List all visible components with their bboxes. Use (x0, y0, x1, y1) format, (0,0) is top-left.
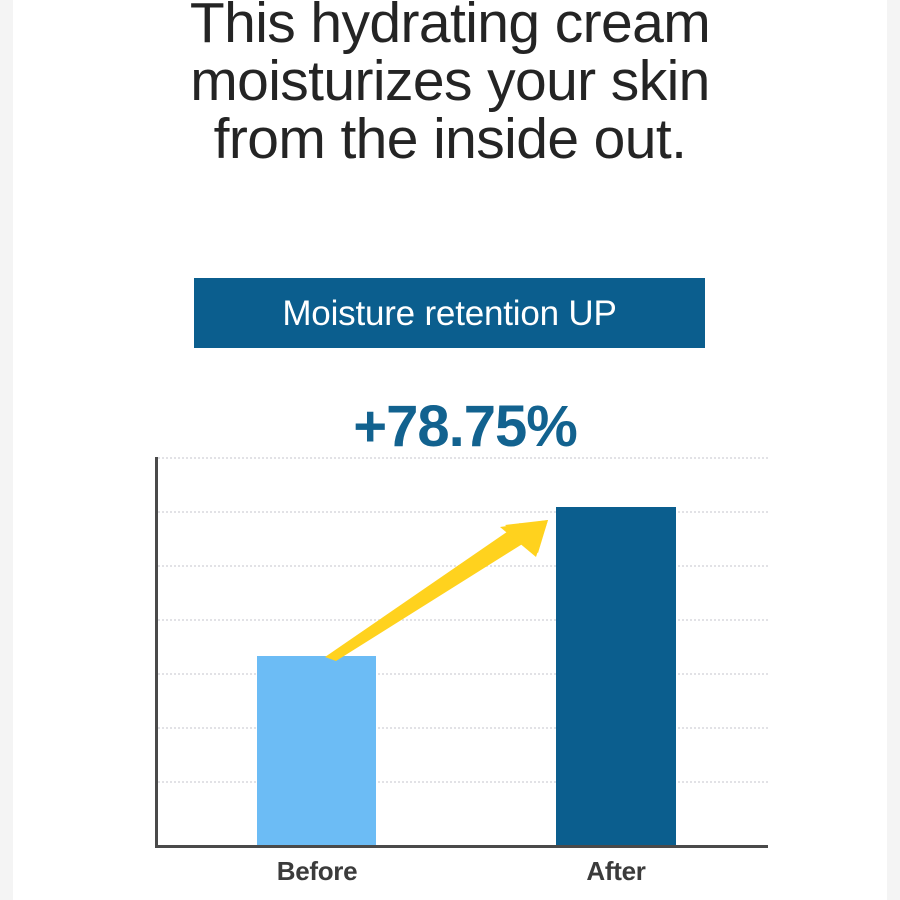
bar-before (257, 656, 376, 845)
infographic-canvas: This hydrating cream moisturizes your sk… (0, 0, 900, 900)
delta-value: +78.75% (250, 398, 680, 456)
x-axis-label-before: Before (237, 856, 397, 887)
gridline (158, 673, 768, 675)
growth-arrow-icon (300, 505, 570, 670)
y-axis-line (155, 457, 158, 848)
x-axis-label-after: After (536, 856, 696, 887)
bar-after (556, 507, 676, 845)
x-axis-line (155, 845, 768, 848)
gridline (158, 727, 768, 729)
gridline (158, 781, 768, 783)
